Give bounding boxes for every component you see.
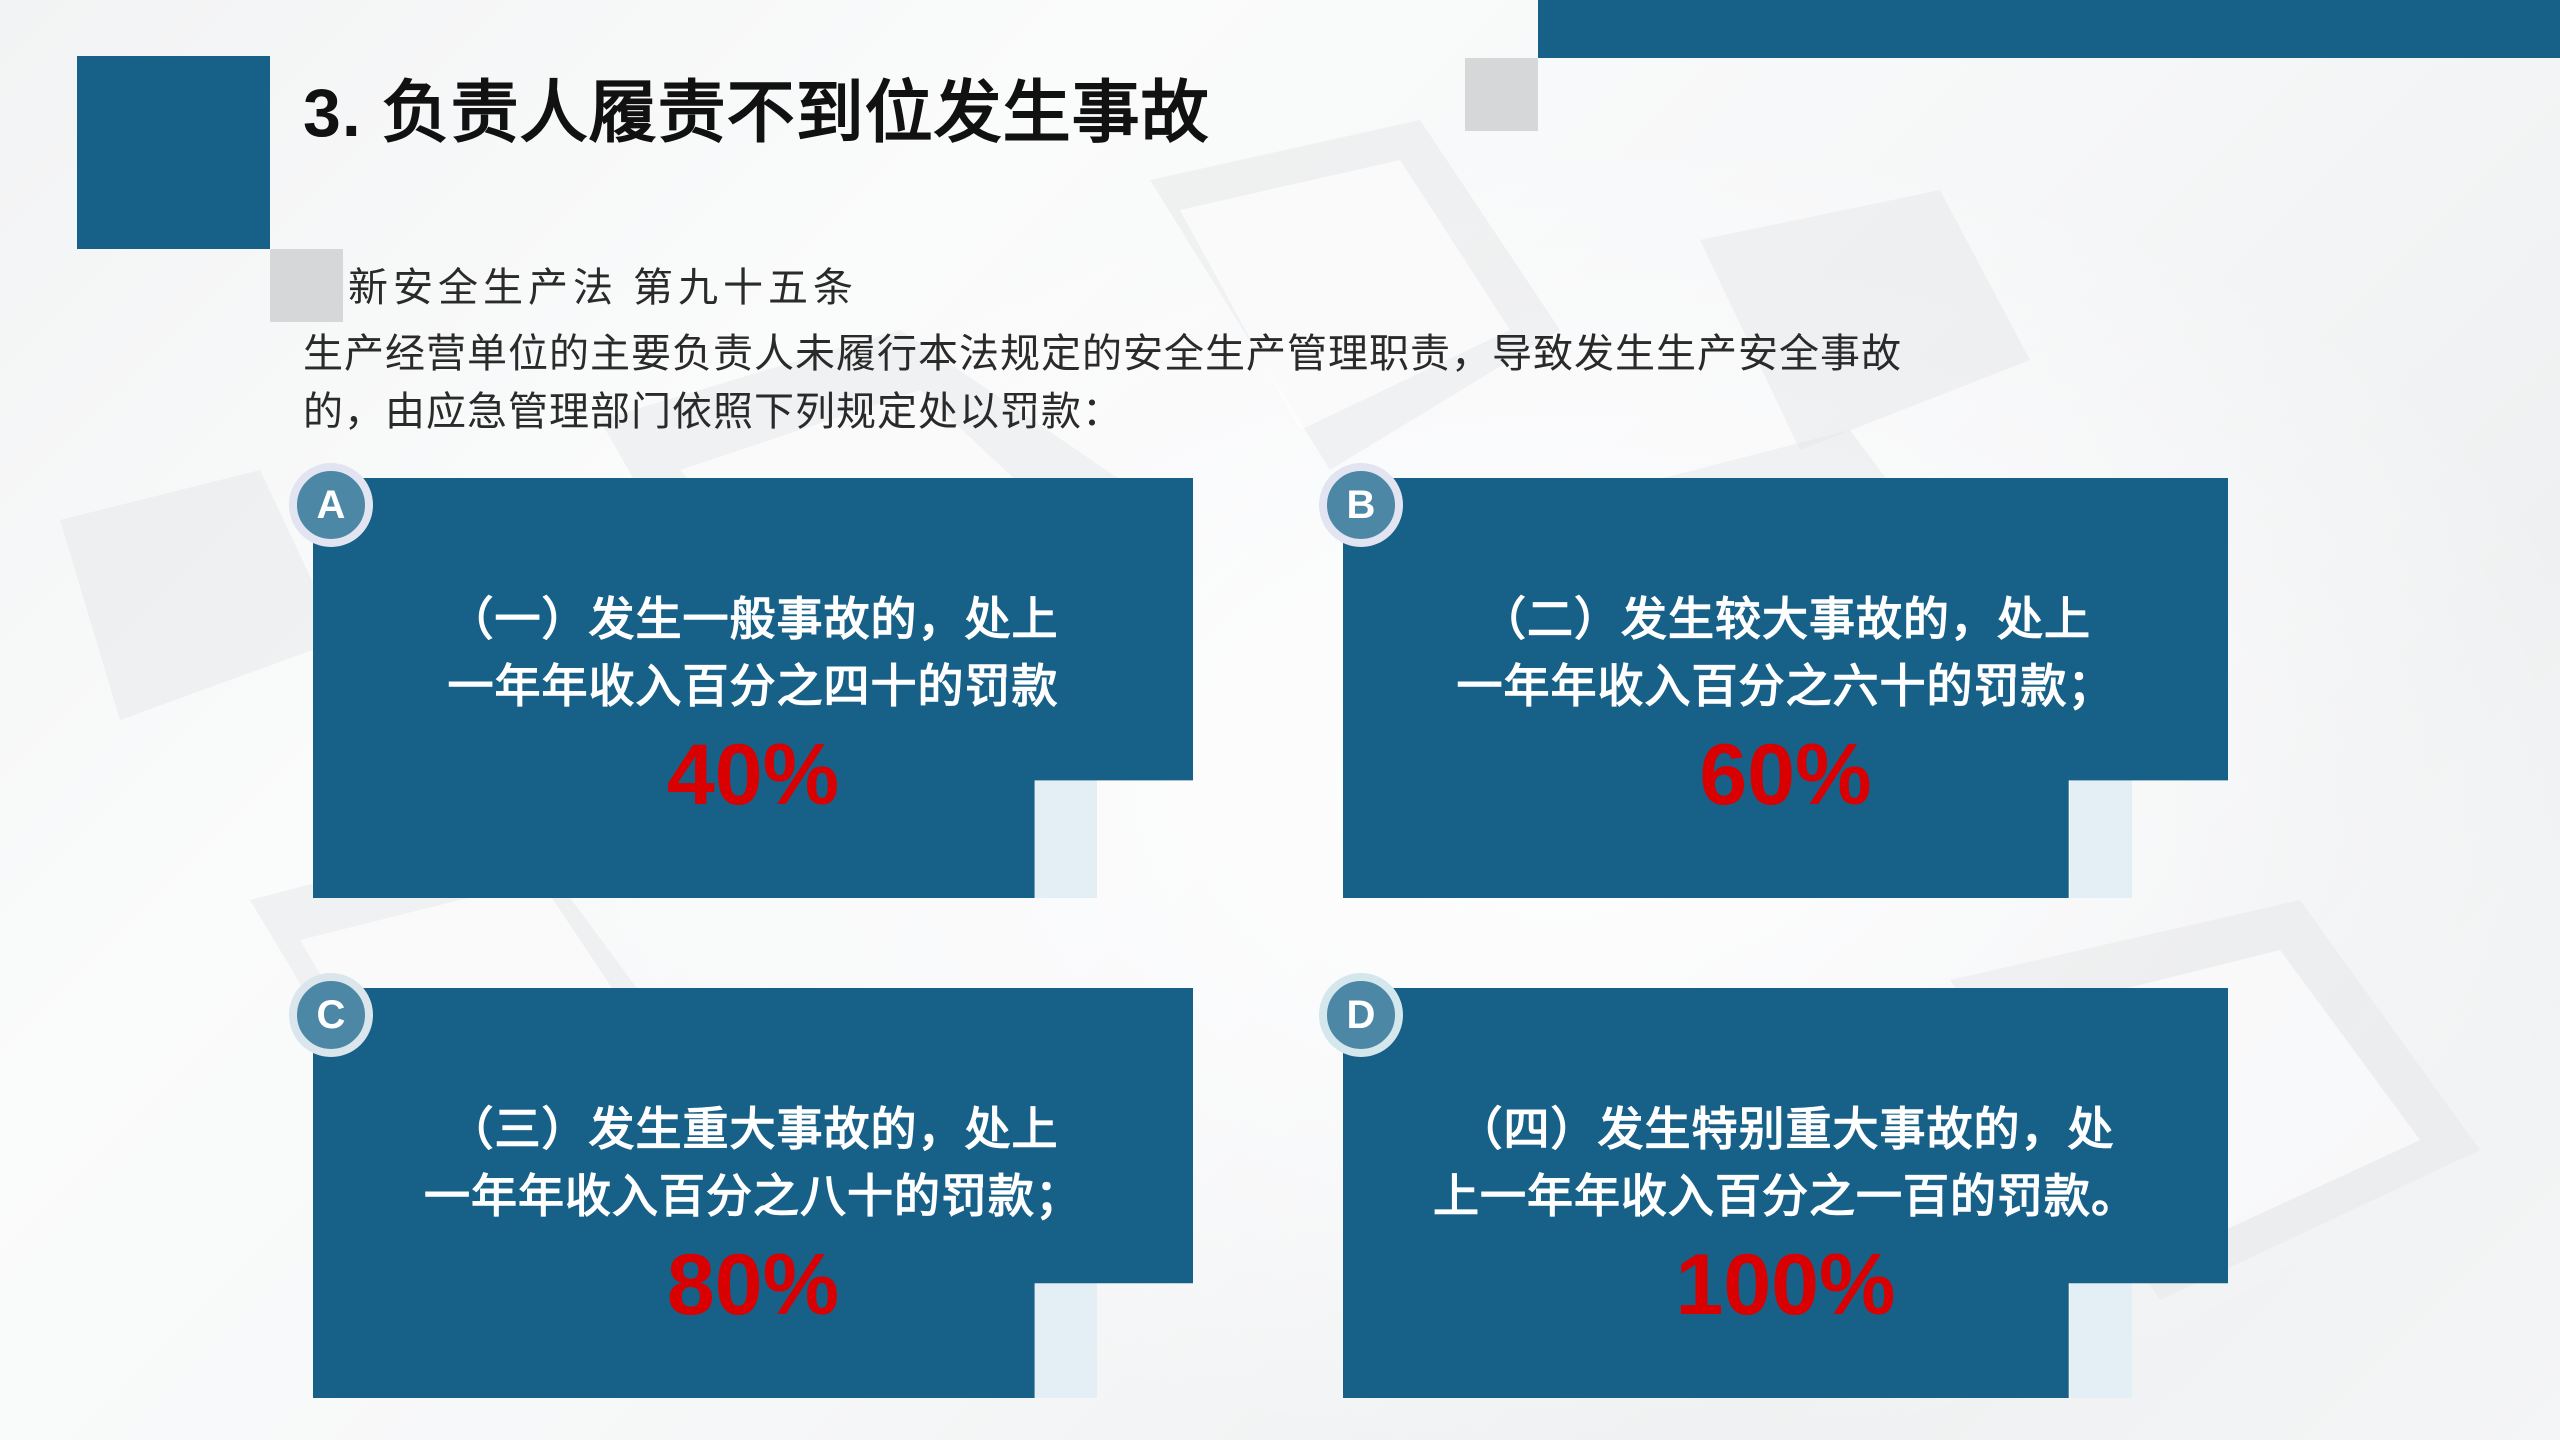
law-body-line-2: 的，由应急管理部门依照下列规定处以罚款： <box>303 383 2283 441</box>
badge-b[interactable]: B <box>1319 463 1403 547</box>
penalty-card-c-text: （三）发生重大事故的，处上 一年年收入百分之八十的罚款； <box>313 1096 1193 1229</box>
decor-blue-bar-top-right <box>1538 0 2560 58</box>
law-body-line-1: 生产经营单位的主要负责人未履行本法规定的安全生产管理职责，导致发生生产安全事故 <box>303 325 2283 383</box>
penalty-card-a-text: （一）发生一般事故的，处上 一年年收入百分之四十的罚款 <box>313 586 1193 719</box>
penalty-card-a-line-2: 一年年收入百分之四十的罚款 <box>337 653 1169 720</box>
card-notch-shadow-c <box>1035 1283 1097 1398</box>
penalty-card-d-line-1: （四）发生特别重大事故的，处 <box>1367 1096 2204 1163</box>
card-notch-shadow-a <box>1035 780 1097 898</box>
card-notch-shadow-b <box>2070 780 2132 898</box>
law-reference: 新安全生产法 第九十五条 <box>348 255 858 313</box>
decor-blue-square-left <box>77 56 270 249</box>
law-body-text: 生产经营单位的主要负责人未履行本法规定的安全生产管理职责，导致发生生产安全事故 … <box>303 325 2283 441</box>
penalty-card-d-text: （四）发生特别重大事故的，处 上一年年收入百分之一百的罚款。 <box>1343 1096 2228 1229</box>
page-title: 3. 负责人履责不到位发生事故 <box>303 78 1210 149</box>
penalty-card-c-line-1: （三）发生重大事故的，处上 <box>337 1096 1169 1163</box>
penalty-card-a-line-1: （一）发生一般事故的，处上 <box>337 586 1169 653</box>
decor-grey-square-left <box>270 249 343 322</box>
penalty-card-b-line-1: （二）发生较大事故的，处上 <box>1367 586 2204 653</box>
penalty-card-c-line-2: 一年年收入百分之八十的罚款； <box>337 1163 1169 1230</box>
badge-d[interactable]: D <box>1319 973 1403 1057</box>
badge-c[interactable]: C <box>289 973 373 1057</box>
badge-a[interactable]: A <box>289 463 373 547</box>
penalty-card-d-line-2: 上一年年收入百分之一百的罚款。 <box>1367 1163 2204 1230</box>
card-notch-shadow-d <box>2070 1283 2132 1398</box>
decor-grey-square-top-right <box>1465 58 1538 131</box>
penalty-card-b-line-2: 一年年收入百分之六十的罚款； <box>1367 653 2204 720</box>
penalty-card-b-text: （二）发生较大事故的，处上 一年年收入百分之六十的罚款； <box>1343 586 2228 719</box>
slide-canvas: 3. 负责人履责不到位发生事故 新安全生产法 第九十五条 生产经营单位的主要负责… <box>0 0 2560 1440</box>
